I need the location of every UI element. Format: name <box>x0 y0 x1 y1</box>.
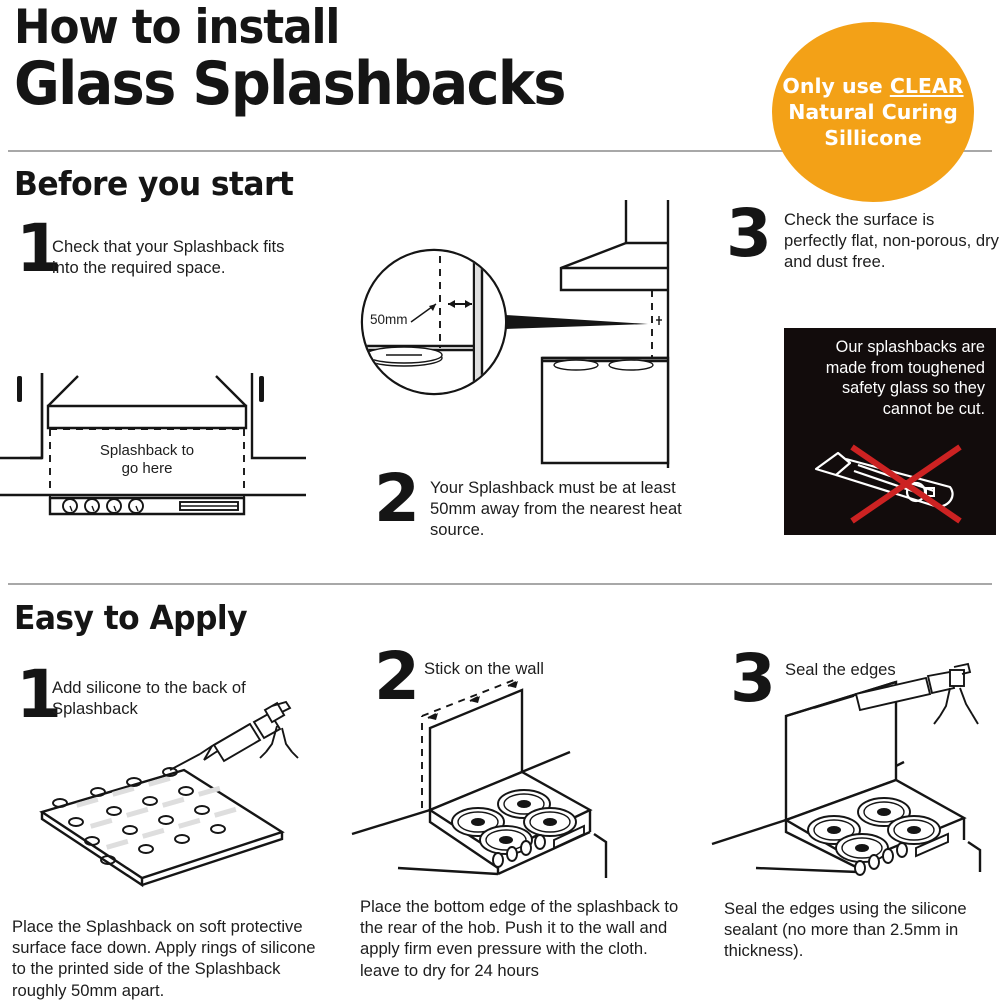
install-guide-page: How to install Glass Splashbacks Only us… <box>0 0 1000 1000</box>
clear-silicone-badge: Only use CLEAR Natural Curing Sillicone <box>772 22 974 202</box>
badge-line1-underlined: CLEAR <box>890 74 964 98</box>
badge-text: Only use CLEAR Natural Curing Sillicone <box>774 73 971 152</box>
utility-knife-crossed-out-icon <box>798 441 988 527</box>
badge-line1-pre: Only use <box>782 74 889 98</box>
badge-line2: Natural Curing <box>788 100 958 124</box>
page-title: How to install Glass Splashbacks <box>14 4 606 115</box>
illustration-seal-edges <box>718 672 1000 872</box>
step-text-2: Your Splashback must be at least 50mm aw… <box>430 478 695 541</box>
diagram-label-splashback-line2: go here <box>122 460 173 477</box>
step-text-1: Check that your Splashback fits into the… <box>52 237 312 279</box>
step-number-2: 2 <box>374 472 417 526</box>
page-title-line1: How to install <box>14 4 565 51</box>
apply-caption-2: Place the bottom edge of the splashback … <box>360 896 680 981</box>
diagram-label-50mm: 50mm <box>370 312 408 327</box>
step-number-3: 3 <box>726 207 769 261</box>
warning-box-cannot-be-cut: Our splashbacks are made from toughened … <box>784 328 996 535</box>
badge-line3: Sillicone <box>824 126 922 150</box>
warning-box-text: Our splashbacks are made from toughened … <box>795 337 985 420</box>
section-heading-before-you-start: Before you start <box>14 164 293 203</box>
diagram-label-splashback-line1: Splashback to <box>100 442 194 459</box>
apply-caption-1: Place the Splashback on soft protective … <box>12 916 332 1000</box>
illustration-apply-silicone-rings <box>14 700 304 890</box>
apply-caption-3: Seal the edges using the silicone sealan… <box>724 898 1000 962</box>
page-title-line2: Glass Splashbacks <box>14 53 565 115</box>
divider-mid <box>8 583 992 585</box>
illustration-50mm-clearance: 50mm <box>356 198 696 468</box>
illustration-splashback-fit: Splashback to go here <box>30 318 310 518</box>
apply-step-text-2: Stick on the wall <box>424 659 664 680</box>
step-text-3: Check the surface is perfectly flat, non… <box>784 210 999 273</box>
section-heading-easy-to-apply: Easy to Apply <box>14 598 247 637</box>
illustration-stick-on-wall <box>358 682 658 882</box>
